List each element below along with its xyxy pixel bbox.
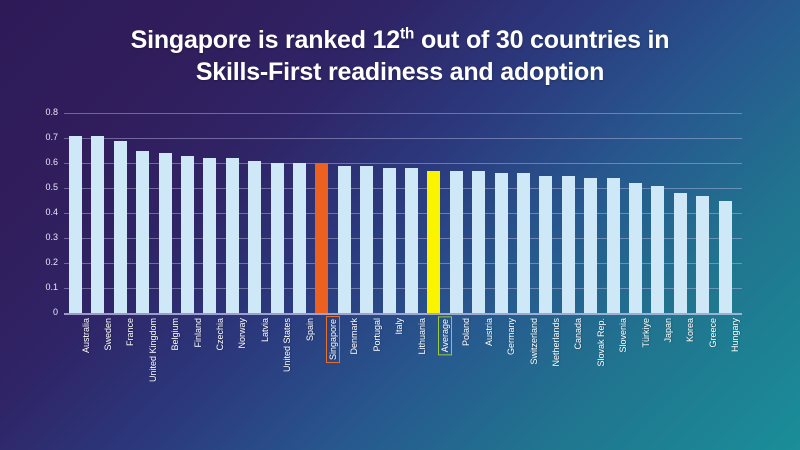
bar-canada (562, 176, 575, 314)
x-axis-label-france: France (124, 316, 136, 348)
x-axis-tick-label: Latvia (259, 316, 271, 344)
chart-x-axis-labels: AustraliaSwedenFranceUnited KingdomBelgi… (64, 316, 742, 436)
bar-singapore (315, 163, 328, 313)
x-axis-tick-label: Singapore (326, 316, 340, 363)
bar-lithuania (405, 168, 418, 313)
bar-austria (472, 171, 485, 314)
bar-average (427, 171, 440, 314)
x-axis-tick-label: Average (438, 316, 452, 355)
x-axis-label-spain: Spain (304, 316, 316, 343)
x-axis-label-australia: Australia (80, 316, 92, 355)
bar-slovenia (607, 178, 620, 313)
gridline (64, 138, 742, 139)
x-axis-label-norway: Norway (236, 316, 248, 351)
x-axis-tick-label: Türkiye (640, 316, 652, 350)
bar-switzerland (517, 173, 530, 313)
x-axis-tick-label: Sweden (102, 316, 114, 353)
bar-france (114, 141, 127, 314)
bar-poland (450, 171, 463, 314)
x-axis-label-portugal: Portugal (371, 316, 383, 354)
x-axis-tick-label: Portugal (371, 316, 383, 354)
x-axis-tick-label: Finland (192, 316, 204, 350)
x-axis-tick-label: Korea (684, 316, 696, 344)
bar-australia (69, 136, 82, 314)
bar-denmark (338, 166, 351, 314)
x-axis-label-hungary: Hungary (729, 316, 741, 354)
x-axis-tick-label: Italy (393, 316, 405, 337)
bar-greece (696, 196, 709, 314)
x-axis-tick-label: Austria (483, 316, 495, 348)
x-axis-tick-label: Lithuania (416, 316, 428, 357)
title-ordinal-suffix: th (400, 26, 414, 43)
x-axis-tick-label: Switzerland (528, 316, 540, 367)
x-axis-label-united-kingdom: United Kingdom (147, 316, 159, 384)
y-axis-tick-label: 0.5 (32, 183, 58, 192)
x-axis-label-united-states: United States (281, 316, 293, 374)
bar-finland (181, 156, 194, 314)
title-line-1-part-b: out of 30 countries in (414, 26, 669, 54)
x-axis-label-slovenia: Slovenia (617, 316, 629, 355)
bar-netherlands (539, 176, 552, 314)
title-line-1-part-a: Singapore is ranked 12 (131, 26, 400, 54)
y-axis-tick-label: 0.4 (32, 208, 58, 217)
x-axis-label-netherlands: Netherlands (550, 316, 562, 369)
bar-latvia (248, 161, 261, 314)
axis-baseline (64, 313, 742, 315)
x-axis-tick-label: France (124, 316, 136, 348)
bar-united-states (271, 163, 284, 313)
x-axis-label-slovak-rep: Slovak Rep. (595, 316, 607, 369)
chart-plot-area: 0.80.70.60.50.40.30.20.10 (64, 113, 742, 313)
bar-spain (293, 163, 306, 313)
x-axis-label-singapore: Singapore (326, 316, 340, 363)
x-axis-label-lithuania: Lithuania (416, 316, 428, 357)
x-axis-tick-label: Denmark (348, 316, 360, 357)
x-axis-tick-label: Czechia (214, 316, 226, 353)
x-axis-tick-label: Germany (505, 316, 517, 357)
x-axis-tick-label: Slovenia (617, 316, 629, 355)
bar-hungary (719, 201, 732, 314)
x-axis-label-canada: Canada (572, 316, 584, 352)
x-axis-tick-label: Australia (80, 316, 92, 355)
y-axis-tick-label: 0.1 (32, 283, 58, 292)
x-axis-label-greece: Greece (707, 316, 719, 350)
slide-canvas: Singapore is ranked 12th out of 30 count… (0, 0, 800, 450)
bar-sweden (91, 136, 104, 314)
x-axis-label-t-rkiye: Türkiye (640, 316, 652, 350)
y-axis-tick-label: 0.3 (32, 233, 58, 242)
y-axis-tick-label: 0 (32, 308, 58, 317)
bar-portugal (360, 166, 373, 314)
bar-germany (495, 173, 508, 313)
bar-norway (226, 158, 239, 313)
x-axis-label-denmark: Denmark (348, 316, 360, 357)
x-axis-tick-label: Canada (572, 316, 584, 352)
x-axis-label-korea: Korea (684, 316, 696, 344)
page-title: Singapore is ranked 12th out of 30 count… (0, 24, 800, 88)
bar-slovak-rep (584, 178, 597, 313)
x-axis-tick-label: Greece (707, 316, 719, 350)
x-axis-tick-label: Belgium (169, 316, 181, 353)
x-axis-tick-label: Poland (460, 316, 472, 348)
x-axis-label-latvia: Latvia (259, 316, 271, 344)
bar-t-rkiye (629, 183, 642, 313)
x-axis-label-austria: Austria (483, 316, 495, 348)
x-axis-label-czechia: Czechia (214, 316, 226, 353)
x-axis-label-italy: Italy (393, 316, 405, 337)
bar-japan (651, 186, 664, 314)
bar-korea (674, 193, 687, 313)
y-axis-tick-label: 0.6 (32, 158, 58, 167)
gridline (64, 113, 742, 114)
x-axis-label-japan: Japan (662, 316, 674, 345)
bar-italy (383, 168, 396, 313)
x-axis-tick-label: United Kingdom (147, 316, 159, 384)
x-axis-tick-label: Hungary (729, 316, 741, 354)
x-axis-tick-label: Japan (662, 316, 674, 345)
x-axis-label-belgium: Belgium (169, 316, 181, 353)
x-axis-label-average: Average (438, 316, 452, 355)
x-axis-tick-label: Netherlands (550, 316, 562, 369)
bar-belgium (159, 153, 172, 313)
x-axis-label-germany: Germany (505, 316, 517, 357)
bar-czechia (203, 158, 216, 313)
x-axis-label-switzerland: Switzerland (528, 316, 540, 367)
x-axis-tick-label: Norway (236, 316, 248, 351)
x-axis-label-sweden: Sweden (102, 316, 114, 353)
x-axis-label-finland: Finland (192, 316, 204, 350)
x-axis-tick-label: Slovak Rep. (595, 316, 607, 369)
x-axis-tick-label: United States (281, 316, 293, 374)
bar-united-kingdom (136, 151, 149, 314)
y-axis-tick-label: 0.8 (32, 108, 58, 117)
y-axis-tick-label: 0.2 (32, 258, 58, 267)
x-axis-tick-label: Spain (304, 316, 316, 343)
y-axis-tick-label: 0.7 (32, 133, 58, 142)
title-line-2: Skills-First readiness and adoption (0, 56, 800, 88)
x-axis-label-poland: Poland (460, 316, 472, 348)
